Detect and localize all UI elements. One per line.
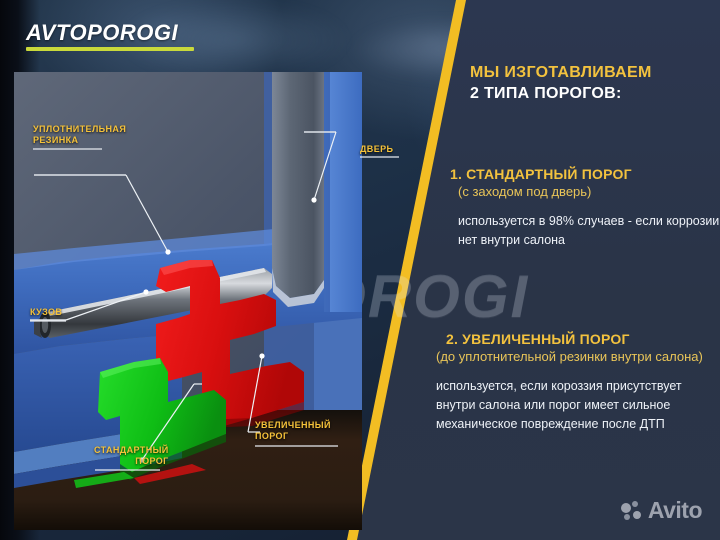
section-enlarged-title: 2. УВЕЛИЧЕННЫЙ ПОРОГ [436, 330, 706, 348]
brand-logo-text: AVTOPOROGI [26, 22, 194, 44]
avito-logo-icon [621, 501, 643, 521]
brand-logo: AVTOPOROGI [26, 22, 194, 51]
avito-watermark: Avito [621, 499, 702, 522]
section-enlarged-body: используется, если короззия присутствует… [436, 377, 706, 434]
brand-logo-underline [26, 47, 194, 51]
poster-root: AVTOPOROGI [0, 0, 720, 540]
section-standard-body: используется в 98% случаев - если корроз… [450, 212, 720, 250]
panel-heading: МЫ ИЗГОТАВЛИВАЕМ 2 ТИПА ПОРОГОВ: [470, 62, 710, 104]
label-door: ДВЕРЬ [360, 144, 393, 155]
panel-heading-line2: 2 ТИПА ПОРОГОВ: [470, 83, 710, 104]
label-rubber-seal: УПЛОТНИТЕЛЬНАЯ РЕЗИНКА [33, 124, 126, 146]
avito-wordmark: Avito [648, 499, 702, 522]
label-body: КУЗОВ [30, 307, 62, 318]
panel-heading-line1: МЫ ИЗГОТАВЛИВАЕМ [470, 62, 710, 83]
section-enlarged-subtitle: (до уплотнительной резинки внутри салона… [436, 348, 706, 366]
label-standard-sill: СТАНДАРТНЫЙ ПОРОГ [94, 445, 169, 467]
section-standard-title: 1. СТАНДАРТНЫЙ ПОРОГ [450, 165, 720, 183]
section-enlarged: 2. УВЕЛИЧЕННЫЙ ПОРОГ (до уплотнительной … [436, 330, 706, 434]
section-standard-subtitle: (с заходом под дверь) [450, 183, 720, 201]
section-standard: 1. СТАНДАРТНЫЙ ПОРОГ (с заходом под двер… [450, 165, 720, 250]
label-enlarged-sill: УВЕЛИЧЕННЫЙ ПОРОГ [255, 420, 331, 442]
